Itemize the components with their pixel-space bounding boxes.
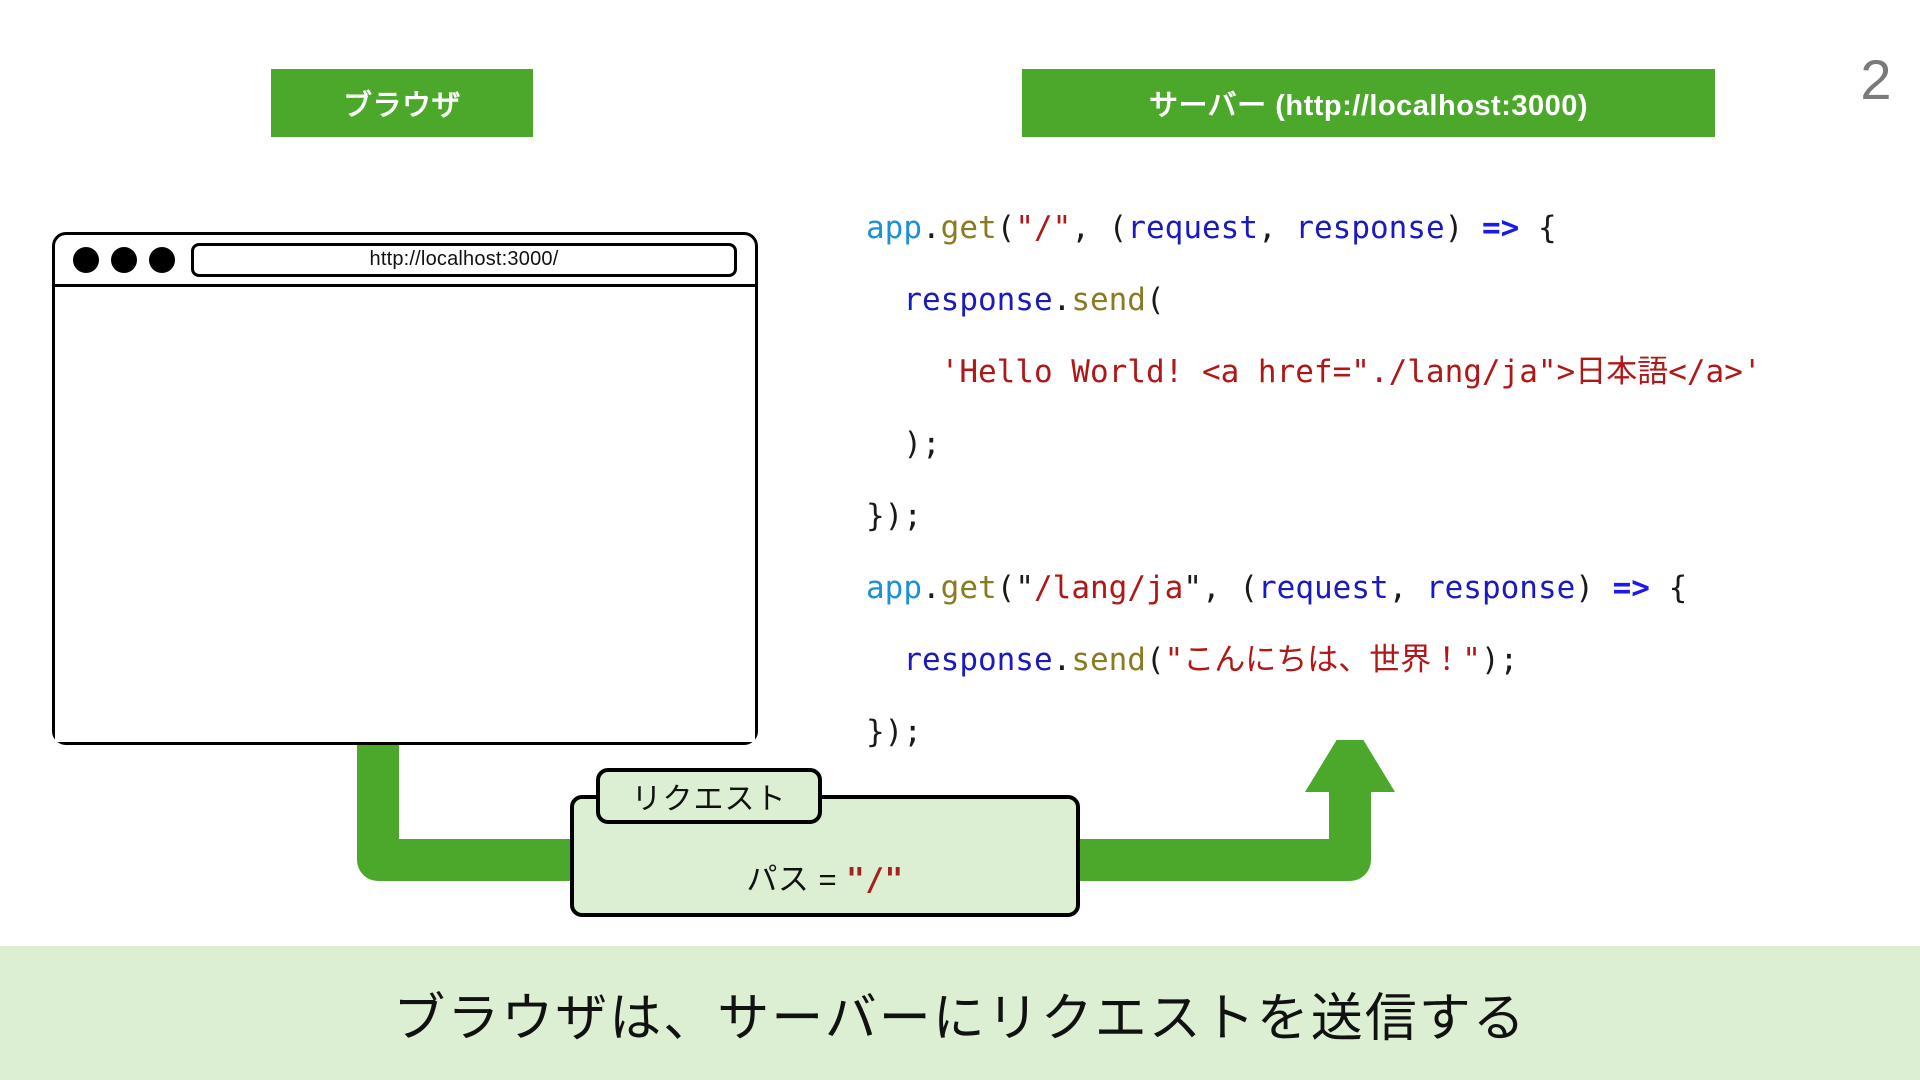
code-token-fn: get <box>941 210 997 246</box>
code-token-punct: " <box>1015 570 1034 606</box>
code-token-param: response <box>1426 570 1575 606</box>
code-line: app.get("/", (request, response) => { <box>866 192 1886 264</box>
code-token-punct: ); <box>866 426 941 462</box>
close-dot-icon[interactable] <box>73 247 99 273</box>
request-path-value: "/" <box>846 862 904 898</box>
code-token-punct: , <box>1389 570 1426 606</box>
code-token-punct: . <box>922 570 941 606</box>
code-token-fn: send <box>1071 642 1146 678</box>
code-token-punct: , ( <box>1071 210 1127 246</box>
request-tab: リクエスト <box>596 768 822 824</box>
code-token-arrow: => <box>1613 570 1650 606</box>
code-token-fn: get <box>941 570 997 606</box>
banner-server-label: サーバー (http://localhost:3000) <box>1149 82 1588 124</box>
code-token-str: "こんにちは、世界！" <box>1165 642 1481 678</box>
code-token-obj: app <box>866 570 922 606</box>
code-token-punct: " <box>1183 570 1202 606</box>
code-token-punct: . <box>922 210 941 246</box>
code-token-punct: , ( <box>1202 570 1258 606</box>
browser-chrome: http://localhost:3000/ <box>55 235 755 287</box>
banner-browser: ブラウザ <box>271 69 533 137</box>
code-token-punct: }); <box>866 714 922 750</box>
code-token-punct: ) <box>1445 210 1482 246</box>
code-token-punct: ); <box>1481 642 1518 678</box>
code-token-punct: ( <box>997 210 1016 246</box>
code-token-obj: app <box>866 210 922 246</box>
caption-text: ブラウザは、サーバーにリクエストを送信する <box>393 976 1526 1051</box>
code-token-punct: ( <box>997 570 1016 606</box>
request-path-label: パス = <box>746 862 846 897</box>
server-code-block: app.get("/", (request, response) => { re… <box>866 192 1886 768</box>
browser-window: http://localhost:3000/ <box>52 232 758 745</box>
code-token-param: response <box>903 282 1052 318</box>
caption-bar: ブラウザは、サーバーにリクエストを送信する <box>0 946 1920 1080</box>
code-token-arrow: => <box>1482 210 1519 246</box>
code-token-punct: { <box>1650 570 1687 606</box>
code-token-param: request <box>1127 210 1258 246</box>
page-number: 2 <box>1860 52 1892 108</box>
code-token-punct: , <box>1258 210 1295 246</box>
code-line: response.send( <box>866 264 1886 336</box>
code-token-punct <box>866 642 903 678</box>
code-token-punct: ( <box>1146 282 1165 318</box>
code-token-punct: }); <box>866 498 922 534</box>
code-token-punct: { <box>1519 210 1556 246</box>
code-token-punct: . <box>1053 282 1072 318</box>
request-path-line: パス = "/" <box>746 854 903 899</box>
browser-viewport <box>55 287 755 742</box>
request-tab-label: リクエスト <box>632 774 787 818</box>
code-token-punct <box>866 354 941 390</box>
url-bar[interactable]: http://localhost:3000/ <box>191 243 737 277</box>
code-line: app.get("/lang/ja", (request, response) … <box>866 552 1886 624</box>
banner-browser-label: ブラウザ <box>343 82 461 124</box>
code-token-str: "/" <box>1015 210 1071 246</box>
code-token-param: request <box>1258 570 1389 606</box>
code-token-punct: ( <box>1146 642 1165 678</box>
slide-root: 2 ブラウザ サーバー (http://localhost:3000) http… <box>0 0 1920 1080</box>
code-token-param: response <box>1295 210 1444 246</box>
code-line: response.send("こんにちは、世界！"); <box>866 624 1886 696</box>
url-text: http://localhost:3000/ <box>370 248 559 271</box>
code-token-punct <box>866 282 903 318</box>
code-line: ); <box>866 408 1886 480</box>
code-token-param: response <box>903 642 1052 678</box>
code-token-str: 'Hello World! <a href="./lang/ja">日本語</a… <box>941 354 1762 390</box>
banner-server: サーバー (http://localhost:3000) <box>1022 69 1715 137</box>
code-token-punct: ) <box>1575 570 1612 606</box>
code-line: 'Hello World! <a href="./lang/ja">日本語</a… <box>866 336 1886 408</box>
code-token-fn: send <box>1071 282 1146 318</box>
code-token-str: /lang/ja <box>1034 570 1183 606</box>
code-line: }); <box>866 696 1886 768</box>
code-token-punct: . <box>1053 642 1072 678</box>
traffic-lights <box>73 247 175 273</box>
maximize-dot-icon[interactable] <box>149 247 175 273</box>
minimize-dot-icon[interactable] <box>111 247 137 273</box>
code-line: }); <box>866 480 1886 552</box>
